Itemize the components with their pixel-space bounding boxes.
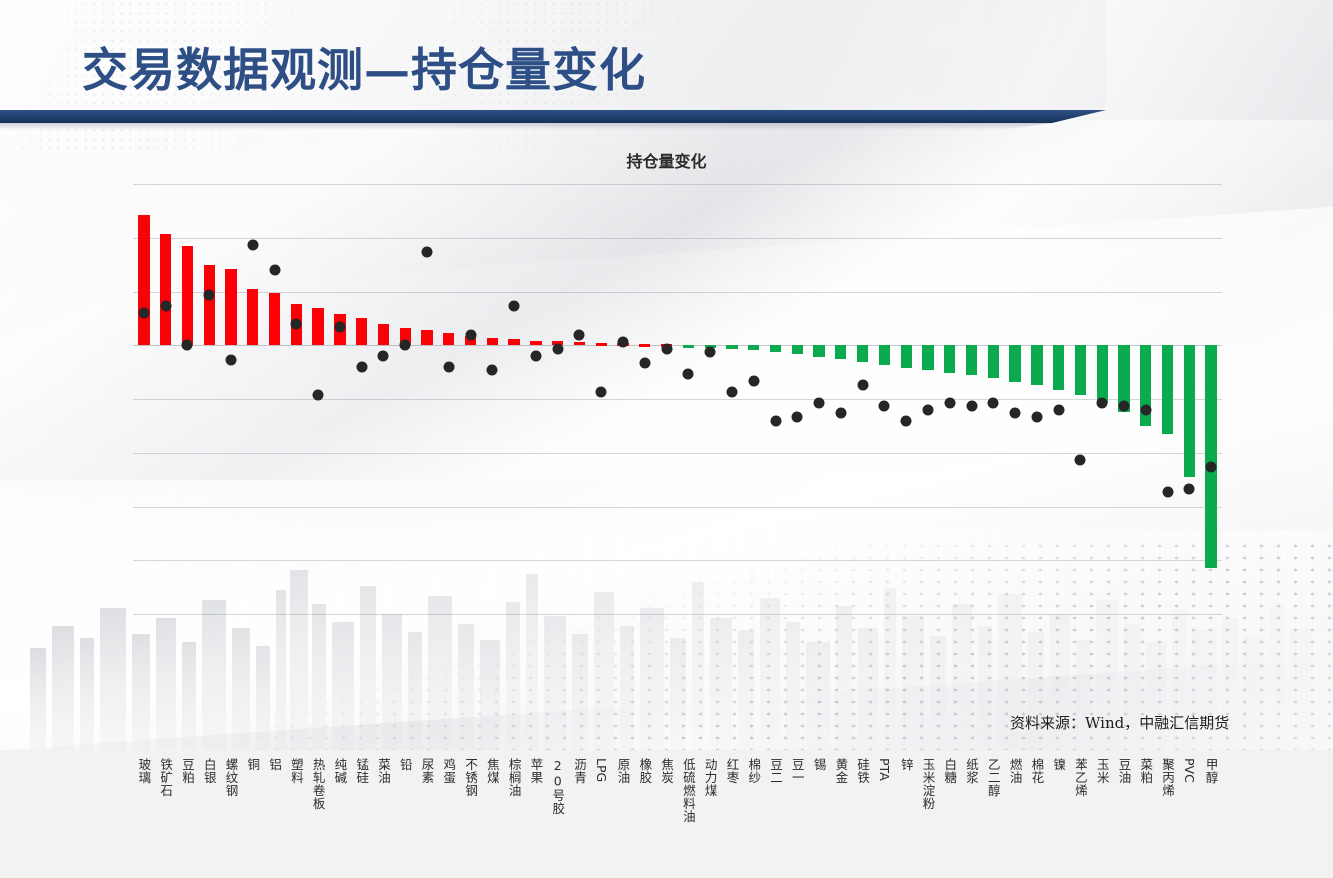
chart-bar bbox=[138, 215, 149, 345]
chart-bar bbox=[1162, 345, 1173, 434]
x-axis-tick-label: 甲醇 bbox=[1202, 758, 1221, 784]
x-axis-tick-label: 镍 bbox=[1049, 758, 1068, 771]
chart-scatter-point bbox=[313, 390, 324, 401]
chart-scatter-point bbox=[226, 354, 237, 365]
chart-bar bbox=[944, 345, 955, 372]
x-axis-tick-label: 苯乙烯 bbox=[1071, 758, 1090, 797]
x-axis-labels: 玻璃铁矿石豆粕白银螺纹钢铜铝塑料热轧卷板纯碱锰硅菜油铅尿素鸡蛋不锈钢焦煤棕榈油苹… bbox=[133, 758, 1222, 878]
chart-bar bbox=[857, 345, 868, 362]
x-axis-tick-label: 苹果 bbox=[526, 758, 545, 784]
x-axis-tick-label: 鸡蛋 bbox=[439, 758, 458, 784]
chart-scatter-point bbox=[639, 358, 650, 369]
x-axis-tick-label: 不锈钢 bbox=[461, 758, 480, 797]
x-axis-tick-label: 塑料 bbox=[287, 758, 306, 784]
x-axis-tick-label: 原油 bbox=[614, 758, 633, 784]
chart-bar bbox=[312, 308, 323, 346]
x-axis-tick-label: 豆二 bbox=[766, 758, 785, 784]
x-axis-tick-label: 棉花 bbox=[1027, 758, 1046, 784]
x-axis-tick-label: 锰硅 bbox=[352, 758, 371, 784]
x-axis-tick-label: 豆一 bbox=[788, 758, 807, 784]
chart-scatter-point bbox=[705, 347, 716, 358]
chart-bar bbox=[1184, 345, 1195, 477]
x-axis-tick-label: 白银 bbox=[200, 758, 219, 784]
chart-scatter-point bbox=[291, 318, 302, 329]
x-axis-tick-label: 红枣 bbox=[722, 758, 741, 784]
chart-scatter-point bbox=[922, 404, 933, 415]
x-axis-tick-label: 热轧卷板 bbox=[309, 758, 328, 810]
x-axis-tick-label: 豆粕 bbox=[178, 758, 197, 784]
x-axis-tick-label: 纸浆 bbox=[962, 758, 981, 784]
chart-scatter-point bbox=[160, 300, 171, 311]
chart-scatter-point bbox=[530, 351, 541, 362]
chart-scatter-point bbox=[814, 397, 825, 408]
chart-bar bbox=[748, 345, 759, 350]
chart-scatter-point bbox=[1118, 401, 1129, 412]
chart-bar bbox=[356, 318, 367, 345]
x-axis-tick-label: 铜 bbox=[243, 758, 262, 771]
chart-bar bbox=[639, 344, 650, 347]
x-axis-tick-label: 焦煤 bbox=[483, 758, 502, 784]
chart-bar bbox=[726, 345, 737, 348]
chart-scatter-point bbox=[1162, 487, 1173, 498]
x-axis-tick-label: 锌 bbox=[897, 758, 916, 771]
chart-scatter-point bbox=[487, 365, 498, 376]
chart-scatter-point bbox=[726, 386, 737, 397]
chart-bar bbox=[508, 339, 519, 345]
chart-scatter-point bbox=[1140, 404, 1151, 415]
x-axis-tick-label: 铝 bbox=[265, 758, 284, 771]
chart-scatter-point bbox=[901, 415, 912, 426]
chart-scatter-point bbox=[1010, 408, 1021, 419]
chart-bar bbox=[683, 345, 694, 348]
x-axis-tick-label: 橡胶 bbox=[635, 758, 654, 784]
chart-bar bbox=[988, 345, 999, 378]
x-axis-tick-label: 尿素 bbox=[418, 758, 437, 784]
chart-bar bbox=[596, 343, 607, 346]
chart-bar bbox=[792, 345, 803, 354]
chart-bar bbox=[1009, 345, 1020, 381]
chart-bar bbox=[204, 265, 215, 346]
gridline bbox=[133, 238, 1222, 239]
chart-bar bbox=[160, 234, 171, 346]
chart-scatter-point bbox=[792, 411, 803, 422]
chart-scatter-point bbox=[683, 368, 694, 379]
chart-bar bbox=[269, 293, 280, 345]
chart-bar bbox=[879, 345, 890, 364]
chart-scatter-point bbox=[465, 329, 476, 340]
page-title: 交易数据观测—持仓量变化 bbox=[82, 34, 646, 100]
gridline bbox=[133, 399, 1222, 400]
chart-scatter-point bbox=[204, 290, 215, 301]
x-axis-tick-label: 玉米 bbox=[1093, 758, 1112, 784]
chart-bar bbox=[1053, 345, 1064, 389]
chart-scatter-point bbox=[748, 376, 759, 387]
chart-bar bbox=[443, 333, 454, 345]
gridline bbox=[133, 507, 1222, 508]
chart-scatter-point bbox=[400, 340, 411, 351]
chart-bar bbox=[247, 289, 258, 345]
chart-scatter-point bbox=[422, 247, 433, 258]
gridline bbox=[133, 614, 1222, 615]
chart-bar bbox=[966, 345, 977, 375]
x-axis-tick-label: 20号胶 bbox=[548, 758, 567, 815]
x-axis-tick-label: 棕榈油 bbox=[505, 758, 524, 797]
title-accent-rule bbox=[0, 110, 1106, 123]
x-axis-tick-label: 棉纱 bbox=[744, 758, 763, 784]
chart-bar bbox=[378, 324, 389, 346]
chart-bar bbox=[1031, 345, 1042, 385]
x-axis-tick-label: 乙二醇 bbox=[984, 758, 1003, 797]
chart-scatter-point bbox=[334, 322, 345, 333]
title-accent-rule-shadow bbox=[0, 123, 1110, 130]
chart-scatter-point bbox=[618, 336, 629, 347]
chart-scatter-point bbox=[247, 239, 258, 250]
chart-scatter-point bbox=[944, 397, 955, 408]
x-axis-tick-label: 锡 bbox=[810, 758, 829, 771]
x-axis-tick-label: 聚丙烯 bbox=[1158, 758, 1177, 797]
x-axis-tick-label: 焦炭 bbox=[657, 758, 676, 784]
x-axis-tick-label: PTA bbox=[877, 758, 892, 781]
chart-bar bbox=[901, 345, 912, 367]
chart-bar bbox=[487, 338, 498, 346]
chart-scatter-point bbox=[552, 343, 563, 354]
x-axis-tick-label: 铁矿石 bbox=[156, 758, 175, 797]
chart-scatter-point bbox=[509, 300, 520, 311]
x-axis-tick-label: 动力煤 bbox=[701, 758, 720, 797]
chart-bar bbox=[1075, 345, 1086, 395]
chart-scatter-point bbox=[879, 401, 890, 412]
chart-scatter-point bbox=[966, 401, 977, 412]
chart-scatter-point bbox=[1097, 397, 1108, 408]
x-axis-tick-label: 玉米淀粉 bbox=[918, 758, 937, 810]
chart-bar bbox=[813, 345, 824, 356]
chart-scatter-point bbox=[835, 408, 846, 419]
x-axis-tick-label: 沥青 bbox=[570, 758, 589, 784]
chart-bar bbox=[1097, 345, 1108, 403]
x-axis-tick-label: PVC bbox=[1182, 758, 1197, 783]
gridline bbox=[133, 453, 1222, 454]
chart-scatter-point bbox=[1075, 454, 1086, 465]
chart-scatter-point bbox=[770, 415, 781, 426]
x-axis-tick-label: 燃油 bbox=[1006, 758, 1025, 784]
chart-bar bbox=[225, 269, 236, 346]
chart-scatter-point bbox=[574, 329, 585, 340]
chart-scatter-point bbox=[269, 265, 280, 276]
chart-scatter-point bbox=[596, 386, 607, 397]
chart-scatter-point bbox=[1184, 483, 1195, 494]
chart-scatter-point bbox=[443, 361, 454, 372]
x-axis-tick-label: 低硫燃料油 bbox=[679, 758, 698, 823]
chart-scatter-point bbox=[988, 397, 999, 408]
chart-scatter-point bbox=[138, 308, 149, 319]
chart-scatter-point bbox=[1031, 411, 1042, 422]
x-axis-tick-label: 玻璃 bbox=[134, 758, 153, 784]
chart-title: 持仓量变化 bbox=[0, 148, 1333, 172]
x-axis-tick-label: 硅铁 bbox=[853, 758, 872, 784]
x-axis-tick-label: 菜油 bbox=[374, 758, 393, 784]
x-axis-tick-label: LPG bbox=[594, 758, 609, 782]
chart-bar bbox=[182, 246, 193, 345]
chart-scatter-point bbox=[378, 351, 389, 362]
chart-scatter-point bbox=[661, 343, 672, 354]
chart-scatter-point bbox=[356, 361, 367, 372]
x-axis-tick-label: 菜粕 bbox=[1136, 758, 1155, 784]
chart-container: 持仓量变化 6000040000200000-20000-40000-60000… bbox=[0, 140, 1333, 640]
chart-bar bbox=[421, 330, 432, 345]
x-axis-tick-label: 螺纹钢 bbox=[222, 758, 241, 797]
chart-bar bbox=[574, 342, 585, 345]
x-axis-tick-label: 纯碱 bbox=[330, 758, 349, 784]
chart-bar bbox=[530, 341, 541, 346]
x-axis-tick-label: 黄金 bbox=[831, 758, 850, 784]
plot-area: 6000040000200000-20000-40000-60000-80000… bbox=[133, 184, 1222, 614]
chart-bar bbox=[922, 345, 933, 370]
x-axis-tick-label: 铅 bbox=[396, 758, 415, 771]
chart-scatter-point bbox=[857, 379, 868, 390]
chart-bar bbox=[1205, 345, 1216, 568]
gridline bbox=[133, 184, 1222, 185]
gridline bbox=[133, 560, 1222, 561]
chart-scatter-point bbox=[1206, 462, 1217, 473]
chart-scatter-point bbox=[1053, 404, 1064, 415]
gridline bbox=[133, 292, 1222, 293]
chart-scatter-point bbox=[182, 340, 193, 351]
source-note: 资料来源：Wind，中融汇信期货 bbox=[1010, 712, 1229, 733]
chart-bar bbox=[835, 345, 846, 359]
chart-bar bbox=[770, 345, 781, 352]
x-axis-tick-label: 白糖 bbox=[940, 758, 959, 784]
x-axis-tick-label: 豆油 bbox=[1114, 758, 1133, 784]
